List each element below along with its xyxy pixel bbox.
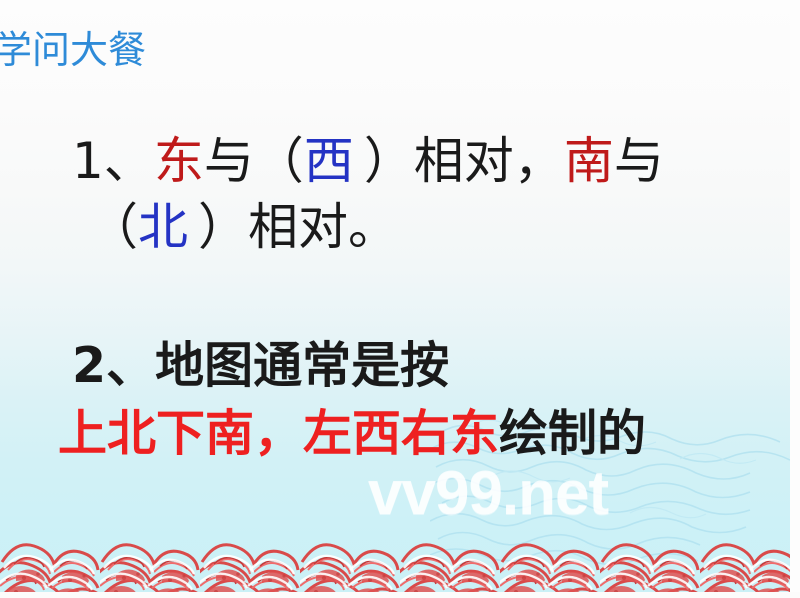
question-1-line-1: 1、东与（西）相对，南与	[72, 128, 664, 194]
q2-l2-seg-0: 上北下南，左西右东	[58, 405, 499, 462]
q1-l2-seg-1: 北	[138, 198, 188, 256]
q1-l1-seg-3: 西	[304, 132, 354, 190]
q2-l2-seg-1: 绘制的	[499, 405, 646, 462]
q1-l1-seg-4: ）相对，	[364, 132, 564, 190]
question-1-line-2: （北）相对。	[72, 194, 664, 260]
q1-l1-seg-1: 东	[154, 132, 204, 190]
bottom-edge-margin	[0, 592, 800, 598]
question-2-line-1: 2、地图通常是按	[72, 332, 646, 400]
right-edge-margin	[790, 0, 800, 598]
wave-border-decoration	[0, 508, 800, 598]
q1-l1-seg-6: 与	[614, 132, 664, 190]
slide-background	[0, 0, 790, 592]
question-item-2: 2、地图通常是按 上北下南，左西右东绘制的	[72, 332, 646, 468]
slide-canvas: vv99.net 学问大餐 1、东与（西）相对，南与 （北）相对。 2、地图通常…	[0, 0, 800, 598]
q1-l1-seg-5: 南	[564, 132, 614, 190]
question-2-line-2: 上北下南，左西右东绘制的	[58, 400, 646, 468]
q1-l2-seg-2: ）相对。	[198, 198, 398, 256]
q1-l1-seg-2: 与（	[204, 132, 304, 190]
question-item-1: 1、东与（西）相对，南与 （北）相对。	[72, 128, 664, 260]
page-title: 学问大餐	[0, 28, 146, 72]
q2-l1-seg-0: 2、地图通常是按	[72, 337, 449, 394]
q1-l2-seg-0: （	[88, 198, 138, 256]
q1-l1-seg-0: 1、	[72, 132, 154, 190]
